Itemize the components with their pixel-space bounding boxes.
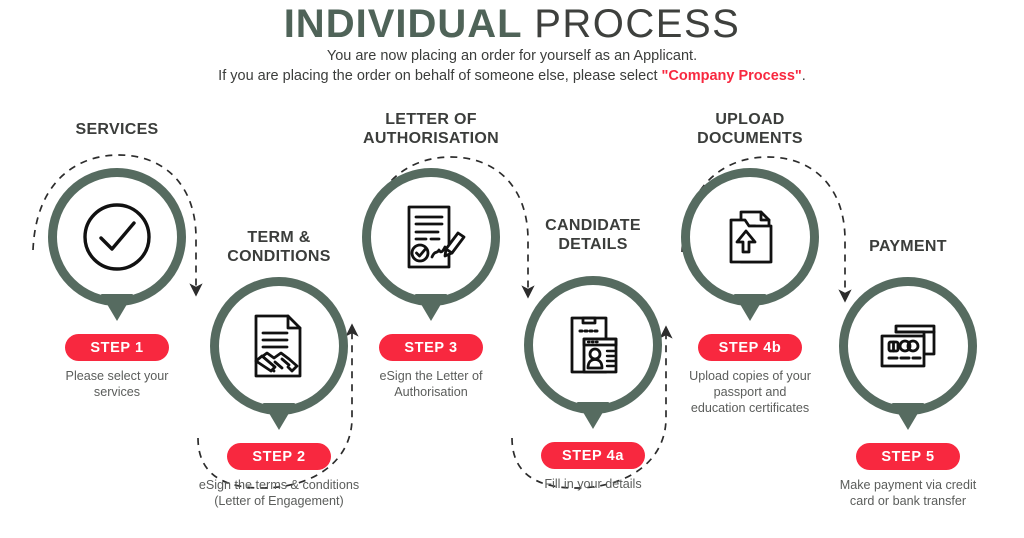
step-heading-upload-documents: UPLOAD DOCUMENTS: [650, 110, 850, 148]
step-pin-services[interactable]: [48, 168, 186, 306]
step-pin-candidate-details[interactable]: [524, 276, 662, 414]
step-heading-services: SERVICES: [17, 120, 217, 139]
step-pill-term-conditions[interactable]: STEP 2: [227, 443, 331, 470]
step-pin-term-conditions[interactable]: [210, 277, 348, 415]
step-heading-upload-line1: UPLOAD: [650, 110, 850, 129]
step-caption-letter-of-authorisation: eSign the Letter of Authorisation: [331, 368, 531, 400]
step-heading-payment: PAYMENT: [808, 237, 1008, 256]
caption-line: passport and: [650, 384, 850, 400]
folder-upload-icon: [681, 168, 819, 306]
step-heading-loa-line2: AUTHORISATION: [331, 129, 531, 148]
caption-line: Please select your: [17, 368, 217, 384]
step-heading-candidate-details: CANDIDATE DETAILS: [493, 216, 693, 254]
credit-card-icon: [839, 277, 977, 415]
step-heading-upload-line2: DOCUMENTS: [650, 129, 850, 148]
step-pin-upload-documents[interactable]: [681, 168, 819, 306]
step-heading-term-conditions-line1: TERM &: [179, 228, 379, 247]
step-heading-payment-line1: PAYMENT: [808, 237, 1008, 256]
profile-card-icon: [524, 276, 662, 414]
step-pill-letter-of-authorisation[interactable]: STEP 3: [379, 334, 483, 361]
step-heading-term-conditions-line2: CONDITIONS: [179, 247, 379, 266]
caption-line: Make payment via credit: [793, 477, 1023, 493]
infographic-canvas: INDIVIDUAL PROCESS You are now placing a…: [0, 0, 1024, 538]
step-heading-services-line1: SERVICES: [75, 121, 158, 138]
caption-line: (Letter of Engagement): [169, 493, 389, 509]
step-caption-candidate-details: Fill in your details: [493, 476, 693, 492]
step-caption-services: Please select your services: [17, 368, 217, 400]
step-heading-candidate-line1: CANDIDATE: [493, 216, 693, 235]
step-heading-candidate-line2: DETAILS: [493, 235, 693, 254]
step-pill-payment[interactable]: STEP 5: [856, 443, 960, 470]
caption-line: services: [17, 384, 217, 400]
step-pill-services[interactable]: STEP 1: [65, 334, 169, 361]
document-pen-icon: [362, 168, 500, 306]
check-circle-icon: [48, 168, 186, 306]
caption-line: eSign the terms & conditions: [169, 477, 389, 493]
step-heading-loa-line1: LETTER OF: [331, 110, 531, 129]
caption-line: Upload copies of your: [650, 368, 850, 384]
step-heading-letter-of-authorisation: LETTER OF AUTHORISATION: [331, 110, 531, 148]
step-caption-term-conditions: eSign the terms & conditions (Letter of …: [169, 477, 389, 509]
step-pill-upload-documents[interactable]: STEP 4b: [698, 334, 802, 361]
step-caption-payment: Make payment via credit card or bank tra…: [793, 477, 1023, 509]
step-pin-letter-of-authorisation[interactable]: [362, 168, 500, 306]
step-pin-payment[interactable]: [839, 277, 977, 415]
step-caption-upload-documents: Upload copies of your passport and educa…: [650, 368, 850, 416]
caption-line: eSign the Letter of: [331, 368, 531, 384]
step-pill-candidate-details[interactable]: STEP 4a: [541, 442, 645, 469]
caption-line: Authorisation: [331, 384, 531, 400]
handshake-document-icon: [210, 277, 348, 415]
step-heading-term-conditions: TERM & CONDITIONS: [179, 228, 379, 266]
caption-line: card or bank transfer: [793, 493, 1023, 509]
caption-line: education certificates: [650, 400, 850, 416]
caption-line: Fill in your details: [493, 476, 693, 492]
